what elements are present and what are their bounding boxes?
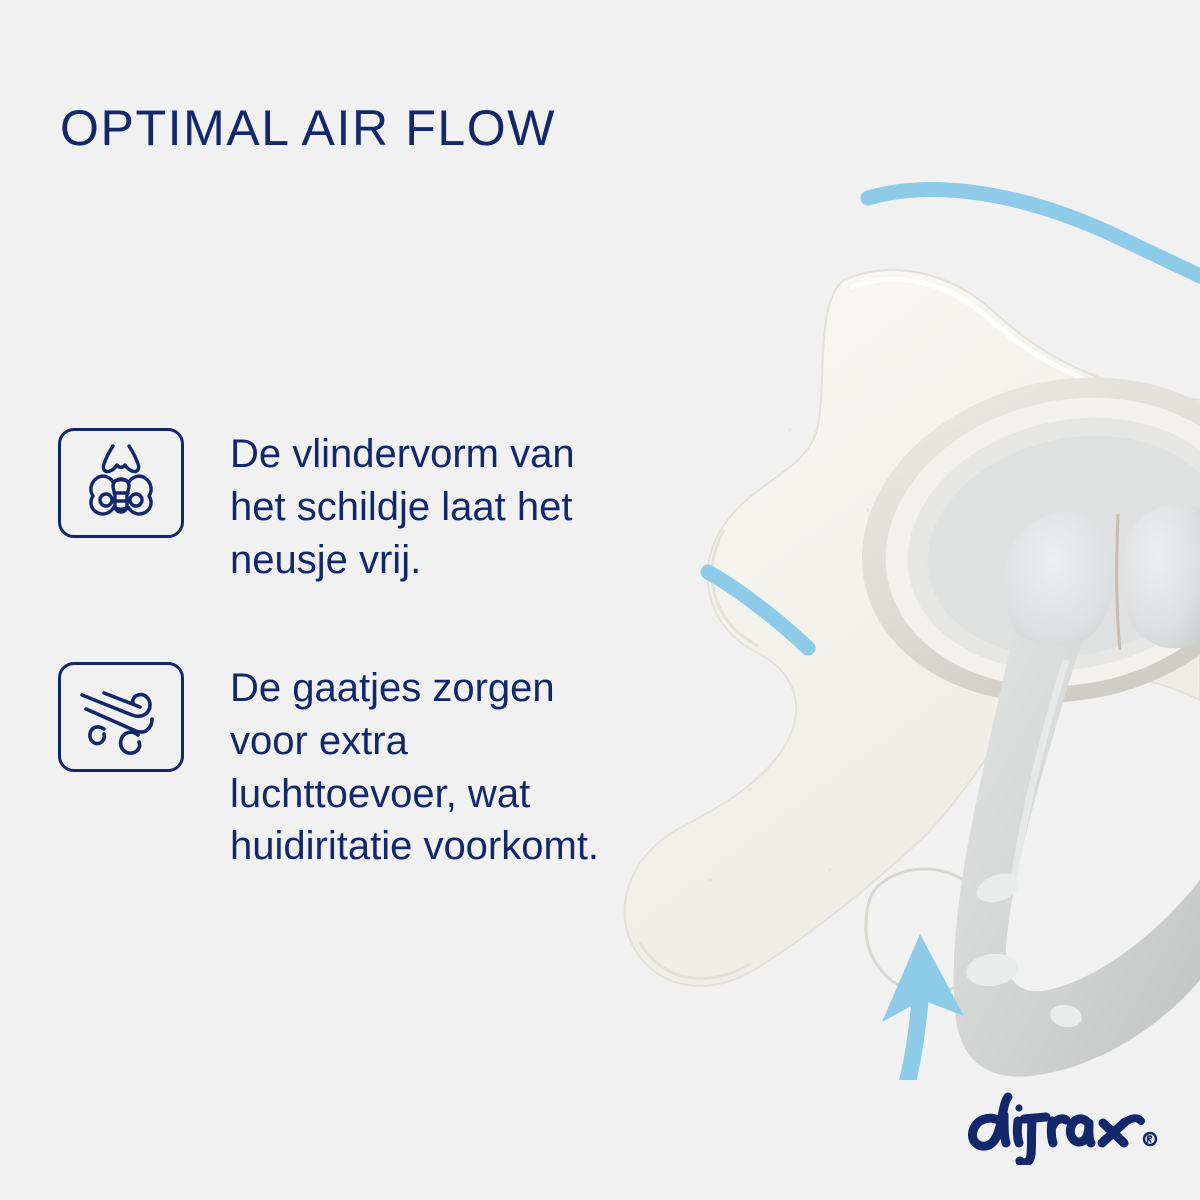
- feature-row-air-holes: De gaatjes zorgen voor extra luchttoevoe…: [58, 662, 620, 873]
- feature-text-air-holes: De gaatjes zorgen voor extra luchttoevoe…: [230, 662, 620, 873]
- airflow-arc-top-right: [868, 190, 1200, 276]
- page-title: OPTIMAL AIR FLOW: [60, 101, 556, 156]
- feature-row-butterfly-shape: De vlindervorm van het schildje laat het…: [58, 428, 620, 586]
- infographic-canvas: OPTIMAL AIR FLOW: [0, 0, 1200, 1200]
- nose-pacifier-shield-icon: [58, 428, 184, 538]
- brand-logo-difrax: [960, 1085, 1160, 1165]
- feature-text-butterfly-shape: De vlindervorm van het schildje laat het…: [230, 428, 620, 586]
- wind-airflow-icon: [58, 662, 184, 772]
- product-image: [600, 180, 1200, 1080]
